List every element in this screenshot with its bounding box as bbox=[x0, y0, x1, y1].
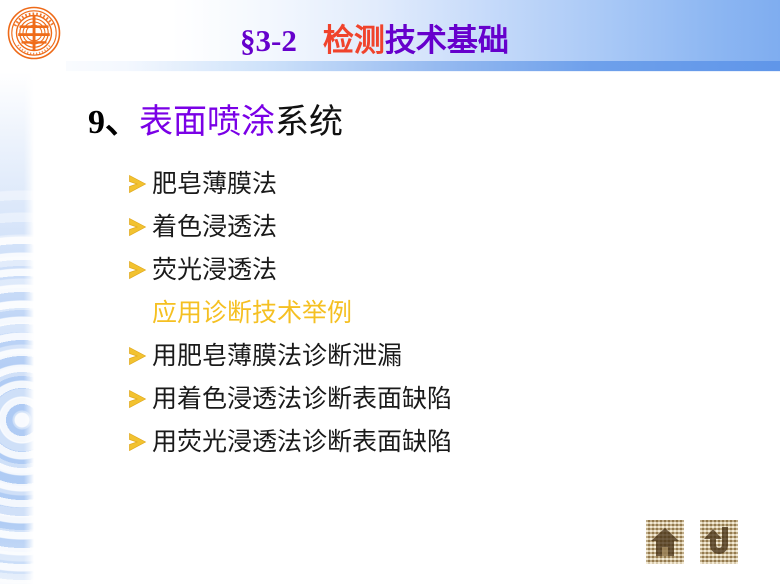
slide-canvas: §3-2检测技术基础 9、表面喷涂系统 肥皂薄膜法 bbox=[0, 0, 780, 584]
slide-body: 9、表面喷涂系统 肥皂薄膜法 着色浸透法 bbox=[0, 72, 780, 584]
home-icon bbox=[649, 524, 681, 560]
section-heading: 9、表面喷涂系统 bbox=[88, 100, 343, 145]
list-item: 着色浸透法 bbox=[128, 205, 748, 248]
huaqiao-university-logo-icon bbox=[7, 4, 61, 62]
list-item: 用着色浸透法诊断表面缺陷 bbox=[128, 377, 748, 420]
bullet-arrow-icon bbox=[128, 345, 151, 367]
slide-title: §3-2检测技术基础 bbox=[240, 18, 660, 64]
heading-purple-part: 表面喷涂 bbox=[139, 102, 275, 142]
slide-header: §3-2检测技术基础 bbox=[0, 0, 780, 72]
title-purple-part: 技术基础 bbox=[385, 23, 509, 59]
list-item-label: 用肥皂薄膜法诊断泄漏 bbox=[152, 340, 402, 372]
list-item: 用肥皂薄膜法诊断泄漏 bbox=[128, 334, 748, 377]
list-item-label: 肥皂薄膜法 bbox=[152, 168, 277, 200]
back-button[interactable] bbox=[700, 520, 738, 564]
title-red-part: 检测 bbox=[323, 23, 385, 59]
heading-black-part: 系统 bbox=[275, 102, 343, 142]
u-turn-arrow-icon bbox=[703, 524, 735, 560]
bullet-arrow-icon bbox=[128, 259, 151, 281]
bullet-list: 肥皂薄膜法 着色浸透法 荧光浸透法 bbox=[128, 162, 748, 463]
list-item-label: 用着色浸透法诊断表面缺陷 bbox=[152, 383, 452, 415]
list-item: 荧光浸透法 bbox=[128, 248, 748, 291]
heading-number: 9、 bbox=[88, 104, 139, 141]
list-item: 肥皂薄膜法 bbox=[128, 162, 748, 205]
list-item-accent: 应用诊断技术举例 bbox=[128, 291, 748, 334]
list-item-label: 着色浸透法 bbox=[152, 211, 277, 243]
bullet-arrow-icon bbox=[128, 431, 151, 453]
bullet-arrow-icon bbox=[128, 388, 151, 410]
list-item-label: 应用诊断技术举例 bbox=[152, 297, 352, 329]
bullet-arrow-icon bbox=[128, 216, 151, 238]
home-button[interactable] bbox=[646, 520, 684, 564]
list-item: 用荧光浸透法诊断表面缺陷 bbox=[128, 420, 748, 463]
bullet-arrow-icon bbox=[128, 173, 151, 195]
logo-container bbox=[2, 0, 66, 72]
title-section-number: §3-2 bbox=[240, 23, 297, 58]
list-item-label: 用荧光浸透法诊断表面缺陷 bbox=[152, 426, 452, 458]
list-item-label: 荧光浸透法 bbox=[152, 254, 277, 286]
